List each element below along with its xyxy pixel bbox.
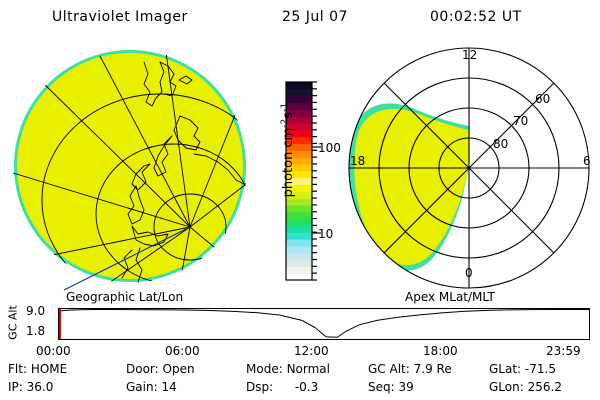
status-flt-value: HOME [31,362,67,376]
status-dsp-key: Dsp: [246,380,273,394]
page-title: Ultraviolet Imager [52,9,188,25]
mlat-ring-label-80: 80 [493,137,508,151]
status-ip-value: 36.0 [27,380,54,394]
status-glon-key: GLon: [489,380,524,394]
globe-emission-fill [17,53,243,279]
status-glat: GLat: -71.5 [489,362,556,376]
status-block: Flt: HOME Door: Open Mode: Normal GC Alt… [0,360,600,400]
orbit-altitude-trace [59,309,589,339]
status-door: Door: Open [126,362,195,376]
status-door-key: Door: [126,362,159,376]
colorbar-unit-label: photon cm-2s-1 [280,90,296,210]
colorbar-tick-label-10: 10 [318,227,333,241]
status-gain-value: 14 [161,380,176,394]
strip-xtick-0: 00:00 [36,344,71,358]
status-dsp: Dsp: -0.3 [246,380,318,394]
strip-ytick-high: 9.0 [26,304,45,318]
auroral-emission-region [349,103,469,270]
status-ip: IP: 36.0 [8,380,53,394]
colorbar-tick-label-100: 100 [318,141,341,155]
strip-xtick-3: 18:00 [423,344,458,358]
apex-panel-caption: Apex MLat/MLT [405,290,495,304]
status-gcalt-value: 7.9 Re [414,362,452,376]
orbit-altitude-strip-panel[interactable]: GC Alt 9.0 1.8 00:00 06:00 12:00 18:00 2… [0,304,600,356]
status-dsp-value: -0.3 [295,380,318,394]
status-mode-key: Mode: [246,362,283,376]
strip-xtick-1: 06:00 [165,344,200,358]
mlt-label-18: 18 [350,154,365,168]
status-gain: Gain: 14 [126,380,177,394]
colorbar-panel: photon cm-2s-1 100 10 [266,50,342,296]
strip-xtick-4: 23:59 [546,344,581,358]
mlat-ring-label-60: 60 [535,92,550,106]
colorbar-scale [266,50,342,296]
mlt-label-0: 0 [465,266,473,280]
colorbar-ticks [312,82,321,280]
observation-date: 25 Jul 07 [282,9,348,25]
status-mode: Mode: Normal [246,362,330,376]
status-gcalt: GC Alt: 7.9 Re [368,362,452,376]
geographic-globe-plot [4,44,266,294]
status-seq-value: 39 [399,380,414,394]
status-mode-value: Normal [287,362,330,376]
status-seq-key: Seq: [368,380,395,394]
strip-xtick-2: 12:00 [294,344,329,358]
status-ip-key: IP: [8,380,23,394]
status-glat-key: GLat: [489,362,521,376]
mlt-label-6: 6 [583,154,591,168]
status-glon: GLon: 256.2 [489,380,562,394]
mlat-ring-label-70: 70 [513,114,528,128]
apex-mlat-mlt-panel[interactable]: 12 18 6 0 60 70 80 [345,44,600,294]
geographic-panel-caption: Geographic Lat/Lon [66,290,183,304]
mlt-spokes [349,48,589,288]
mlt-label-12: 12 [462,48,477,62]
status-gain-key: Gain: [126,380,158,394]
status-glat-value: -71.5 [525,362,556,376]
strip-y-axis-label: GC Alt [7,298,20,348]
observation-time: 00:02:52 UT [430,9,522,25]
current-time-marker [59,309,61,339]
geographic-image-panel[interactable] [4,44,266,294]
strip-ytick-low: 1.8 [26,324,45,338]
uvi-display-window: Ultraviolet Imager 25 Jul 07 00:02:52 UT [0,0,600,400]
status-gcalt-key: GC Alt: [368,362,410,376]
status-glon-value: 256.2 [528,380,562,394]
strip-plot-frame[interactable] [58,308,590,340]
status-flt: Flt: HOME [8,362,67,376]
header-bar: Ultraviolet Imager 25 Jul 07 00:02:52 UT [0,0,600,36]
status-door-value: Open [163,362,195,376]
status-flt-key: Flt: [8,362,27,376]
polar-dial-plot [345,44,600,294]
status-seq: Seq: 39 [368,380,414,394]
